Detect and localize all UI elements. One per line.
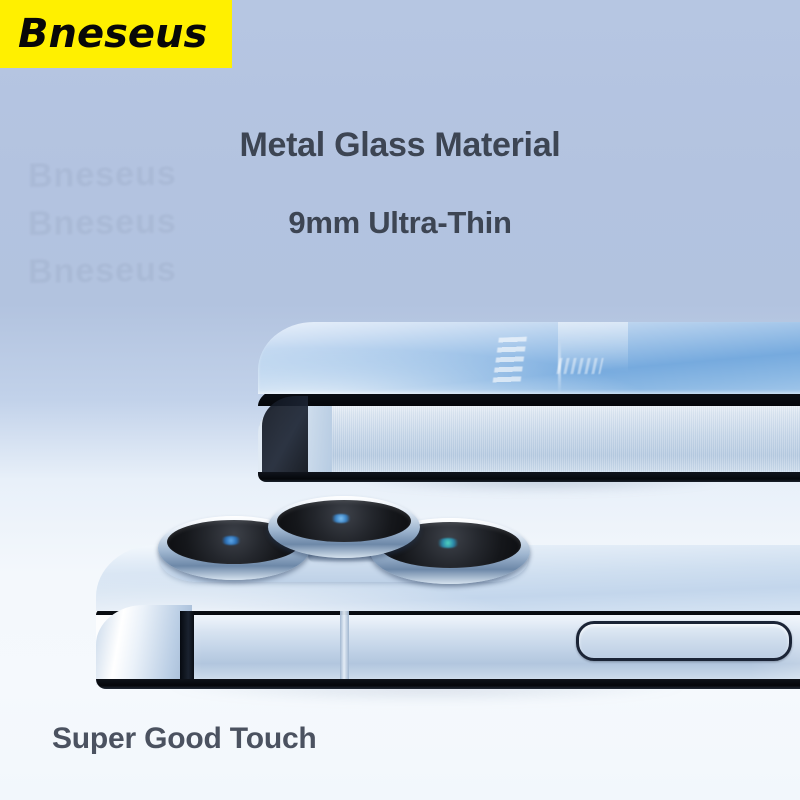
antenna-band-line (340, 611, 349, 685)
feature-caption: Super Good Touch (52, 722, 317, 756)
upper-phone-screen-glass (258, 322, 800, 394)
screen-reflection-glyphs-secondary (556, 358, 603, 374)
lower-phone-rail-corner (96, 605, 192, 685)
upper-phone-bottom-lip (258, 472, 800, 482)
camera-lens-right-glint (436, 538, 460, 548)
camera-module (140, 500, 540, 580)
brand-logo-text: Bneseus (18, 14, 207, 54)
product-banner: Bneseus Bneseus Bneseus (0, 0, 800, 800)
brand-logo-band: Bneseus (0, 0, 232, 68)
lower-phone-edge-seam (180, 611, 194, 685)
page-title: Metal Glass Material (0, 126, 800, 165)
camera-lens-top (268, 496, 420, 558)
upper-phone (258, 322, 800, 482)
screen-reflection-streak (558, 340, 561, 394)
lower-phone-bottom-lip (96, 679, 800, 689)
upper-phone-metal-rail (258, 402, 800, 476)
camera-lens-top-glint (330, 514, 352, 523)
ghost-line-3: Bneseus (28, 244, 258, 296)
upper-phone-edge-seam (262, 396, 308, 478)
camera-lens-left-glint (220, 536, 242, 545)
page-subtitle: 9mm Ultra-Thin (0, 205, 800, 241)
side-power-button[interactable] (576, 621, 792, 661)
